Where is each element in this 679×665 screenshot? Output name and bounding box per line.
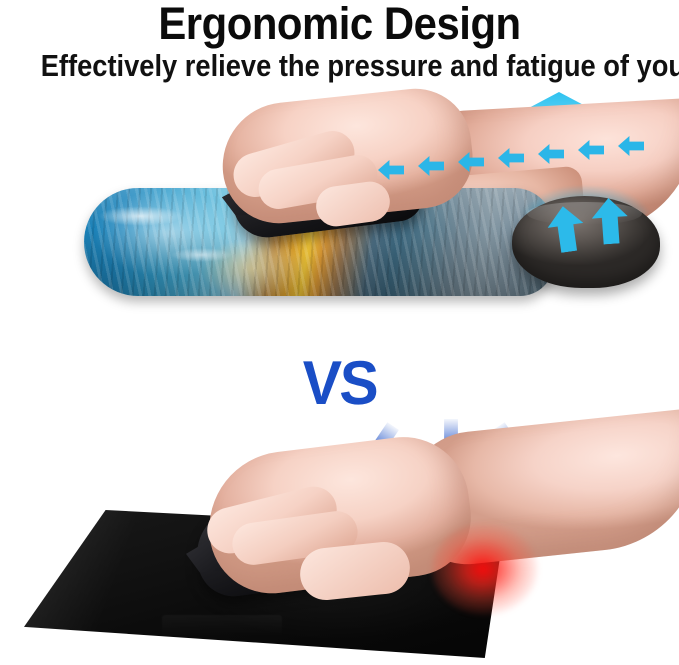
page-title: Ergonomic Design: [24, 0, 655, 50]
gel-wrist-rest: [512, 196, 660, 288]
pad-embossed-logo: [162, 615, 282, 637]
ergonomic-scene: [0, 88, 679, 323]
page-subtitle: Effectively relieve the pressure and fat…: [41, 48, 639, 84]
product-comparison-image: Ergonomic Design Effectively relieve the…: [0, 0, 679, 665]
ordinary-pad-scene: [0, 405, 679, 665]
wrist-pain-indicator: [432, 523, 538, 615]
